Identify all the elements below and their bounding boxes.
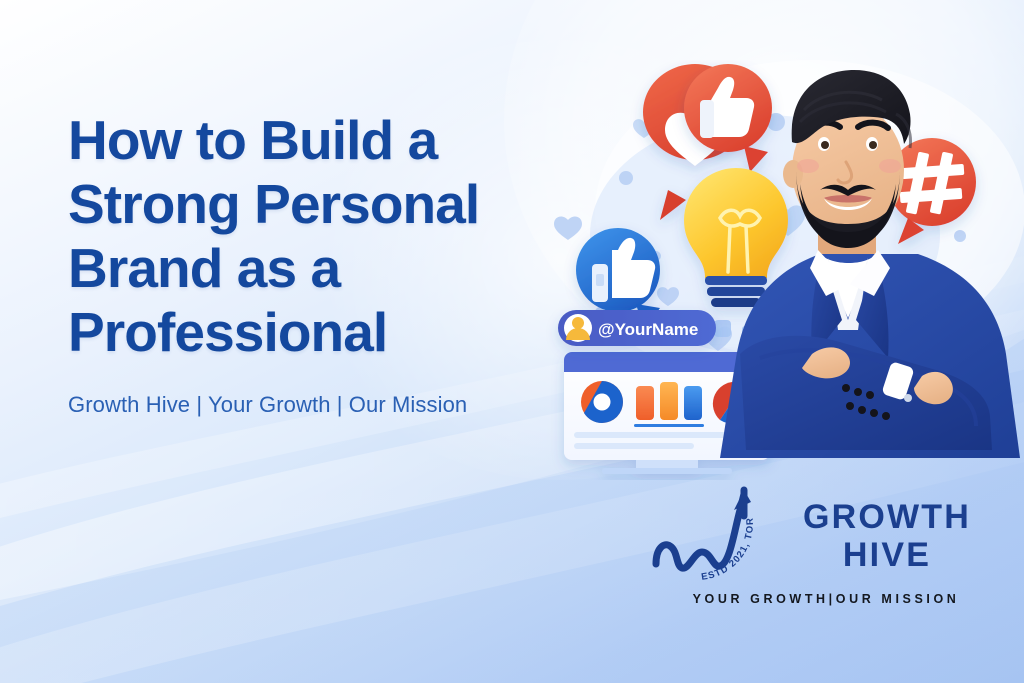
growth-arrow-icon: ESTD 2021, TORONTO (648, 472, 770, 590)
username-badge-label: @YourName (598, 320, 698, 339)
headline-line-4: Professional (68, 301, 387, 363)
logo-wordmark: GROWTH HIVE (770, 498, 1004, 574)
marketing-banner: How to Build a Strong Personal Brand as … (0, 0, 1024, 683)
logo-line-1: GROWTH (770, 498, 1004, 536)
businessman-illustration (700, 58, 1024, 458)
headline-block: How to Build a Strong Personal Brand as … (68, 108, 568, 418)
donut-chart (581, 381, 623, 423)
page-title: How to Build a Strong Personal Brand as … (68, 108, 568, 364)
subtitle: Growth Hive | Your Growth | Our Mission (68, 392, 568, 418)
headline-line-3: Brand as a (68, 237, 340, 299)
logo-tagline: YOUR GROWTH|OUR MISSION (648, 592, 1004, 606)
logo-badge-text: ESTD 2021, TORONTO (648, 472, 756, 583)
username-badge: @YourName (558, 310, 716, 346)
headline-line-1: How to Build a (68, 109, 437, 171)
brand-logo[interactable]: ESTD 2021, TORONTO GROWTH HIVE YOUR GROW… (648, 472, 1004, 622)
headline-line-2: Strong Personal (68, 173, 479, 235)
logo-line-2: HIVE (770, 536, 1004, 574)
